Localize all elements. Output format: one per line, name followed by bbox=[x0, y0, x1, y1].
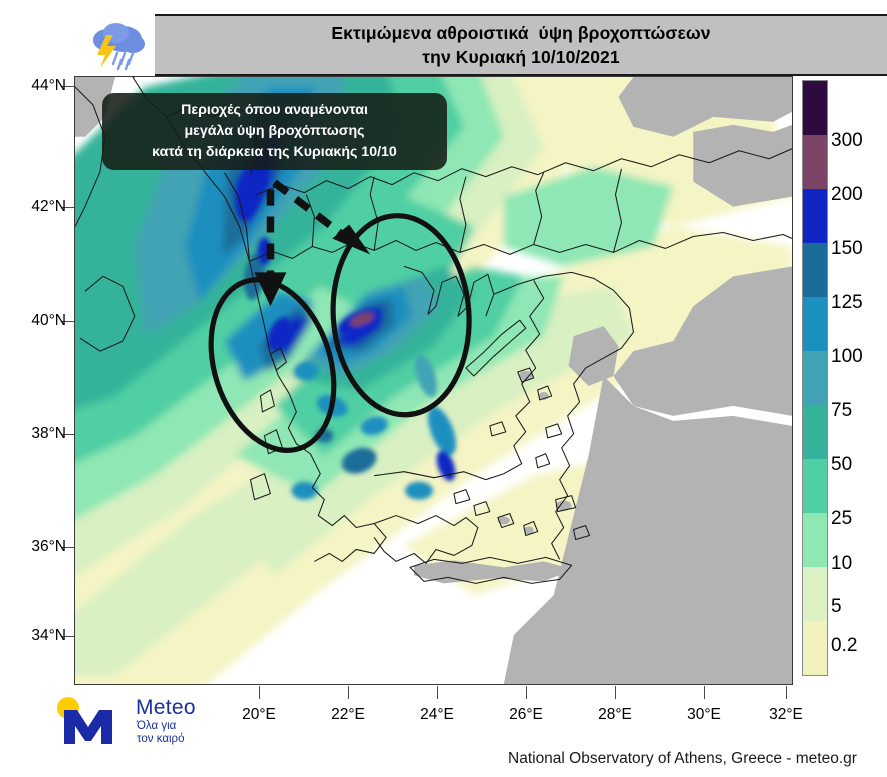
colorbar-band-150-200 bbox=[803, 189, 827, 243]
colorbar-band-02-5 bbox=[803, 621, 827, 675]
x-tick bbox=[348, 686, 349, 699]
colorbar-band-75-100 bbox=[803, 351, 827, 405]
colorbar-label-50: 50 bbox=[831, 454, 852, 476]
x-axis-label-30e: 30°E bbox=[687, 706, 721, 724]
x-axis-label-32e: 32°E bbox=[769, 706, 803, 724]
longitude-axis: 20°E 22°E 24°E 26°E 28°E 30°E 32°E bbox=[0, 0, 887, 777]
colorbar-band-100-125 bbox=[803, 297, 827, 351]
x-tick bbox=[615, 686, 616, 699]
colorbar-band-125-150 bbox=[803, 243, 827, 297]
colorbar-band-200-300 bbox=[803, 135, 827, 189]
colorbar-band-25-50 bbox=[803, 459, 827, 513]
colorbar-band-50-75 bbox=[803, 405, 827, 459]
colorbar-label-125: 125 bbox=[831, 292, 863, 314]
x-tick bbox=[437, 686, 438, 699]
colorbar-band-10-25 bbox=[803, 513, 827, 567]
colorbar-label-75: 75 bbox=[831, 400, 852, 422]
colorbar-label-25: 25 bbox=[831, 508, 852, 530]
x-axis-label-20e: 20°E bbox=[242, 706, 276, 724]
meteo-logo[interactable]: Meteo Όλα για τον καιρό bbox=[50, 694, 215, 752]
x-tick bbox=[704, 686, 705, 699]
x-axis-label-22e: 22°E bbox=[331, 706, 365, 724]
x-tick bbox=[259, 686, 260, 699]
x-tick bbox=[526, 686, 527, 699]
source-credit: National Observatory of Athens, Greece -… bbox=[508, 750, 857, 768]
x-axis-label-24e: 24°E bbox=[420, 706, 454, 724]
colorbar-label-100: 100 bbox=[831, 346, 863, 368]
screenshot-root: Εκτιμώμενα αθροιστικά ύψη βροχοπτώσεων τ… bbox=[0, 0, 887, 777]
x-axis-label-28e: 28°E bbox=[598, 706, 632, 724]
x-tick bbox=[786, 686, 787, 699]
colorbar-label-5: 5 bbox=[831, 596, 842, 618]
colorbar-label-150: 150 bbox=[831, 238, 863, 260]
colorbar-label-200: 200 bbox=[831, 184, 863, 206]
colorbar-label-10: 10 bbox=[831, 553, 852, 575]
meteo-logo-text: Meteo bbox=[136, 696, 196, 720]
colorbar-band-gt300 bbox=[803, 81, 827, 135]
colorbar-label-02: 0.2 bbox=[831, 635, 857, 657]
precipitation-colorbar[interactable] bbox=[802, 80, 828, 676]
x-axis-label-26e: 26°E bbox=[509, 706, 543, 724]
colorbar-label-300: 300 bbox=[831, 130, 863, 152]
colorbar-band-5-10 bbox=[803, 567, 827, 621]
meteo-logo-tagline-1: Όλα για bbox=[137, 720, 176, 734]
meteo-logo-tagline-2: τον καιρό bbox=[137, 733, 184, 747]
meteo-logo-mark bbox=[50, 694, 130, 752]
